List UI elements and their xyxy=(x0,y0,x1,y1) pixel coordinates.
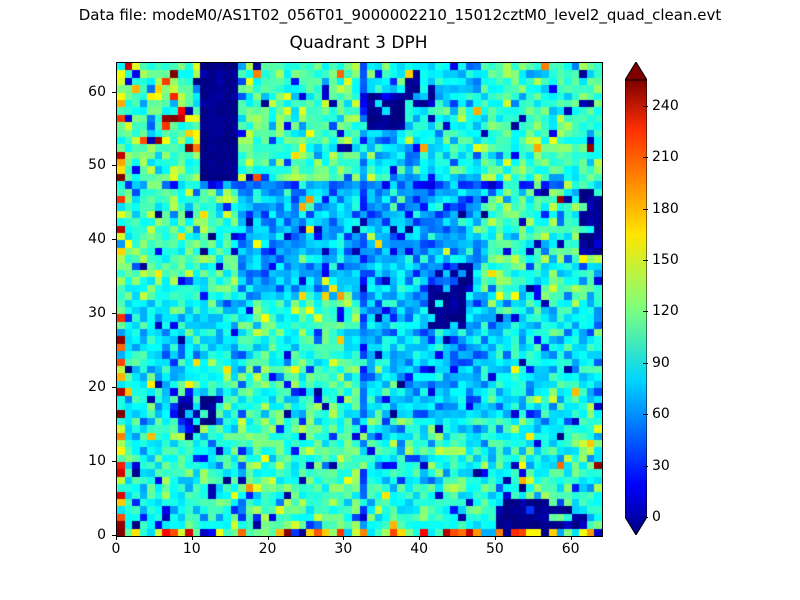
colorbar-tick-mark xyxy=(643,209,648,210)
heatmap-axes xyxy=(116,62,603,537)
x-tick-mark xyxy=(116,536,117,540)
y-tick-mark xyxy=(112,313,116,314)
x-tick-label: 50 xyxy=(486,541,504,557)
colorbar-tick-label: 210 xyxy=(652,149,679,165)
matplotlib-figure: Data file: modeM0/AS1T02_056T01_90000022… xyxy=(0,0,800,600)
colorbar-tick-label: 180 xyxy=(652,201,679,217)
y-tick-mark xyxy=(112,461,116,462)
x-tick-mark xyxy=(343,536,344,540)
x-tick-label: 40 xyxy=(410,541,428,557)
colorbar-tick-mark xyxy=(643,106,648,107)
colorbar-tick-label: 90 xyxy=(652,355,670,371)
x-tick-mark xyxy=(268,536,269,540)
colorbar-tick-label: 150 xyxy=(652,252,679,268)
x-tick-mark xyxy=(419,536,420,540)
y-tick-label: 30 xyxy=(88,305,106,321)
colorbar-tick-mark xyxy=(643,414,648,415)
colorbar-tick-mark xyxy=(643,466,648,467)
y-tick-mark xyxy=(112,387,116,388)
colorbar-tick-mark xyxy=(643,517,648,518)
x-tick-mark xyxy=(495,536,496,540)
x-tick-mark xyxy=(571,536,572,540)
colorbar-tick-label: 30 xyxy=(652,458,670,474)
colorbar-tick-mark xyxy=(643,363,648,364)
plot-title: Quadrant 3 DPH xyxy=(116,33,601,53)
colorbar-tick-label: 120 xyxy=(652,303,679,319)
y-tick-mark xyxy=(112,239,116,240)
y-tick-mark xyxy=(112,165,116,166)
x-tick-label: 20 xyxy=(259,541,277,557)
colorbar-tick-mark xyxy=(643,311,648,312)
y-tick-label: 20 xyxy=(88,379,106,395)
y-tick-label: 0 xyxy=(97,527,106,543)
x-tick-label: 30 xyxy=(334,541,352,557)
colorbar xyxy=(625,62,647,535)
colorbar-gradient xyxy=(625,62,647,535)
colorbar-tick-mark xyxy=(643,157,648,158)
y-tick-mark xyxy=(112,535,116,536)
y-tick-label: 60 xyxy=(88,84,106,100)
x-tick-label: 0 xyxy=(112,541,121,557)
y-tick-mark xyxy=(112,92,116,93)
data-file-suptitle: Data file: modeM0/AS1T02_056T01_90000022… xyxy=(0,6,800,24)
colorbar-tick-label: 0 xyxy=(652,509,661,525)
detector-heatmap-image xyxy=(117,63,602,536)
x-tick-label: 60 xyxy=(562,541,580,557)
colorbar-tick-label: 60 xyxy=(652,406,670,422)
colorbar-tick-label: 240 xyxy=(652,98,679,114)
y-tick-label: 50 xyxy=(88,157,106,173)
y-tick-label: 40 xyxy=(88,231,106,247)
x-tick-label: 10 xyxy=(183,541,201,557)
colorbar-tick-mark xyxy=(643,260,648,261)
y-tick-label: 10 xyxy=(88,453,106,469)
x-tick-mark xyxy=(192,536,193,540)
